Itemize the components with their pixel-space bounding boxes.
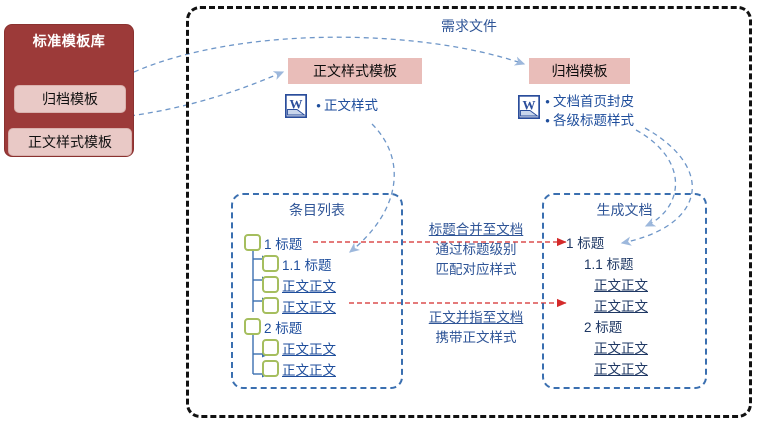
library-item-body-style-template[interactable]: 正文样式模板 (8, 128, 132, 156)
doc-line: 正文正文 (594, 337, 648, 358)
bullet-icon: • (542, 92, 553, 111)
diagram-canvas: 标准模板库 归档模板 正文样式模板 需求文件 正文样式模板 归档模板 W W •… (0, 0, 759, 425)
checkbox-icon[interactable] (262, 297, 279, 314)
tree-row[interactable]: 正文正文 (244, 358, 336, 379)
doc-line: 2 标题 (584, 316, 648, 337)
library-item-archive-template[interactable]: 归档模板 (14, 85, 126, 113)
item-list-title: 条目列表 (231, 200, 403, 220)
word-icon: W (518, 95, 540, 119)
list-item: • 各级标题样式 (542, 111, 634, 130)
bullet-icon: • (542, 111, 553, 130)
tree-row[interactable]: 正文正文 (244, 295, 336, 316)
word-icon: W (285, 94, 307, 118)
bullet-label: 各级标题样式 (553, 111, 634, 130)
note-line: 携带正文样式 (412, 328, 540, 348)
doc-line: 1 标题 (566, 232, 648, 253)
tree-row-label: 2 标题 (264, 317, 302, 337)
bullet-icon: • (313, 96, 324, 115)
tree-row-label: 正文正文 (282, 296, 336, 316)
doc-line: 1.1 标题 (584, 253, 648, 274)
checkbox-icon[interactable] (262, 255, 279, 272)
tree-row-label: 正文正文 (282, 275, 336, 295)
doc-line: 正文正文 (594, 295, 648, 316)
checkbox-icon[interactable] (262, 276, 279, 293)
tree-row[interactable]: 正文正文 (244, 337, 336, 358)
note-line: 标题合并至文档 (412, 220, 540, 240)
tree-row[interactable]: 正文正文 (244, 274, 336, 295)
merge-body-note: 正文并指至文档 携带正文样式 (412, 308, 540, 348)
archive-template-bullets: • 文档首页封皮 • 各级标题样式 (542, 92, 634, 130)
standard-template-library-panel[interactable]: 标准模板库 归档模板 正文样式模板 (4, 24, 134, 157)
list-item: • 文档首页封皮 (542, 92, 634, 111)
doc-line: 正文正文 (594, 274, 648, 295)
tree-row-label: 正文正文 (282, 338, 336, 358)
tree-row[interactable]: 2 标题 (244, 316, 336, 337)
body-style-template-box[interactable]: 正文样式模板 (288, 58, 422, 84)
generated-document-content: 1 标题 1.1 标题 正文正文 正文正文 2 标题 正文正文 正文正文 (566, 232, 648, 379)
checkbox-icon[interactable] (262, 360, 279, 377)
checkbox-icon[interactable] (244, 318, 261, 335)
library-title: 标准模板库 (5, 31, 133, 51)
doc-line: 正文正文 (594, 358, 648, 379)
tree-row[interactable]: 1.1 标题 (244, 253, 336, 274)
note-line: 匹配对应样式 (412, 260, 540, 280)
note-line: 正文并指至文档 (412, 308, 540, 328)
archive-template-box[interactable]: 归档模板 (529, 58, 630, 84)
svg-text:W: W (290, 97, 303, 112)
checkbox-icon[interactable] (244, 234, 261, 251)
tree-row-label: 1.1 标题 (282, 254, 332, 274)
svg-text:W: W (523, 98, 536, 113)
checkbox-icon[interactable] (262, 339, 279, 356)
body-style-template-bullets: • 正文样式 (313, 96, 378, 115)
note-line: 通过标题级别 (412, 240, 540, 260)
requirement-file-title: 需求文件 (186, 16, 752, 36)
bullet-label: 文档首页封皮 (553, 92, 634, 111)
tree-row[interactable]: 1 标题 (244, 232, 336, 253)
list-item: • 正文样式 (313, 96, 378, 115)
item-list-tree: 1 标题 1.1 标题 正文正文 正文正文 2 标题 正文正文 正文正文 (244, 232, 336, 379)
tree-row-label: 正文正文 (282, 359, 336, 379)
generated-document-title: 生成文档 (542, 200, 707, 220)
merge-heading-note: 标题合并至文档 通过标题级别 匹配对应样式 (412, 220, 540, 280)
bullet-label: 正文样式 (324, 96, 378, 115)
tree-row-label: 1 标题 (264, 233, 302, 253)
